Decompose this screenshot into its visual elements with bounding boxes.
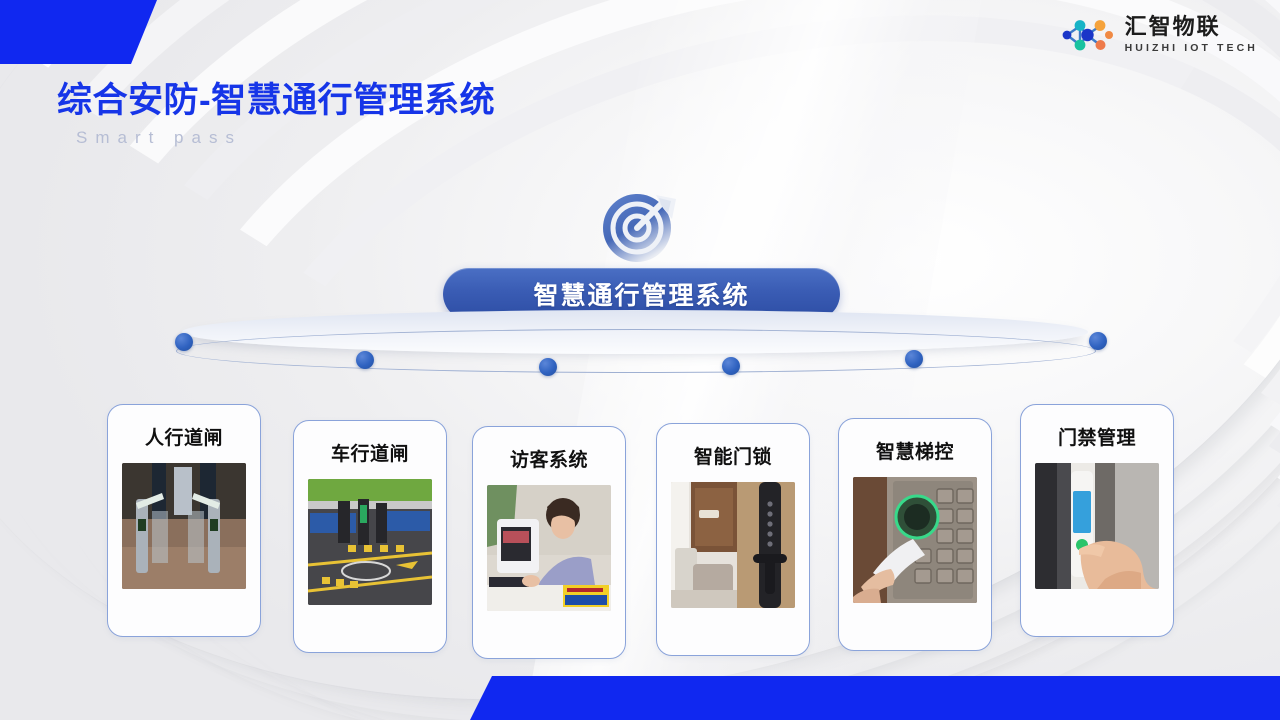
logo-name-en: HUIZHI IOT TECH bbox=[1125, 43, 1258, 54]
target-arrow-icon bbox=[597, 186, 685, 266]
feature-card[interactable]: 访客系统 bbox=[472, 426, 626, 659]
connector-dot bbox=[1089, 332, 1107, 350]
connector-arc-line bbox=[176, 329, 1096, 373]
feature-card[interactable]: 门禁管理 bbox=[1020, 404, 1174, 637]
visitor-reception-desk-photo bbox=[487, 485, 611, 611]
elevator-card-reader-photo bbox=[853, 477, 977, 603]
feature-card-label: 访客系统 bbox=[510, 445, 588, 472]
connector-dot bbox=[539, 358, 557, 376]
feature-card-label: 车行道闸 bbox=[331, 439, 409, 466]
top-left-accent-shape bbox=[0, 0, 170, 64]
feature-card[interactable]: 车行道闸 bbox=[293, 420, 447, 653]
logo-name-cn: 汇智物联 bbox=[1125, 16, 1258, 38]
feature-card-label: 门禁管理 bbox=[1058, 423, 1136, 450]
access-control-fingerprint-photo bbox=[1035, 463, 1159, 589]
feature-card[interactable]: 人行道闸 bbox=[107, 404, 261, 637]
feature-card-label: 智慧梯控 bbox=[876, 437, 954, 464]
molecule-network-icon bbox=[1056, 14, 1116, 56]
brand-logo: 汇智物联 HUIZHI IOT TECH bbox=[1056, 14, 1258, 56]
page-subtitle: Smart pass bbox=[76, 128, 242, 148]
connector-dot bbox=[175, 333, 193, 351]
connector-dot bbox=[722, 357, 740, 375]
page-title: 综合安防-智慧通行管理系统 bbox=[57, 72, 495, 123]
connector-dot bbox=[356, 351, 374, 369]
vehicle-barrier-gate-photo bbox=[308, 479, 432, 605]
feature-card[interactable]: 智能门锁 bbox=[656, 423, 810, 656]
feature-card-label: 人行道闸 bbox=[145, 423, 223, 450]
bottom-right-accent-shape bbox=[470, 676, 1280, 720]
smart-door-lock-photo bbox=[671, 482, 795, 608]
feature-card-label: 智能门锁 bbox=[694, 442, 772, 469]
slide-canvas: 综合安防-智慧通行管理系统 Smart pass bbox=[0, 0, 1280, 720]
connector-dot bbox=[905, 350, 923, 368]
feature-card[interactable]: 智慧梯控 bbox=[838, 418, 992, 651]
pedestrian-speed-gate-photo bbox=[122, 463, 246, 589]
center-badge-label: 智慧通行管理系统 bbox=[533, 276, 749, 312]
